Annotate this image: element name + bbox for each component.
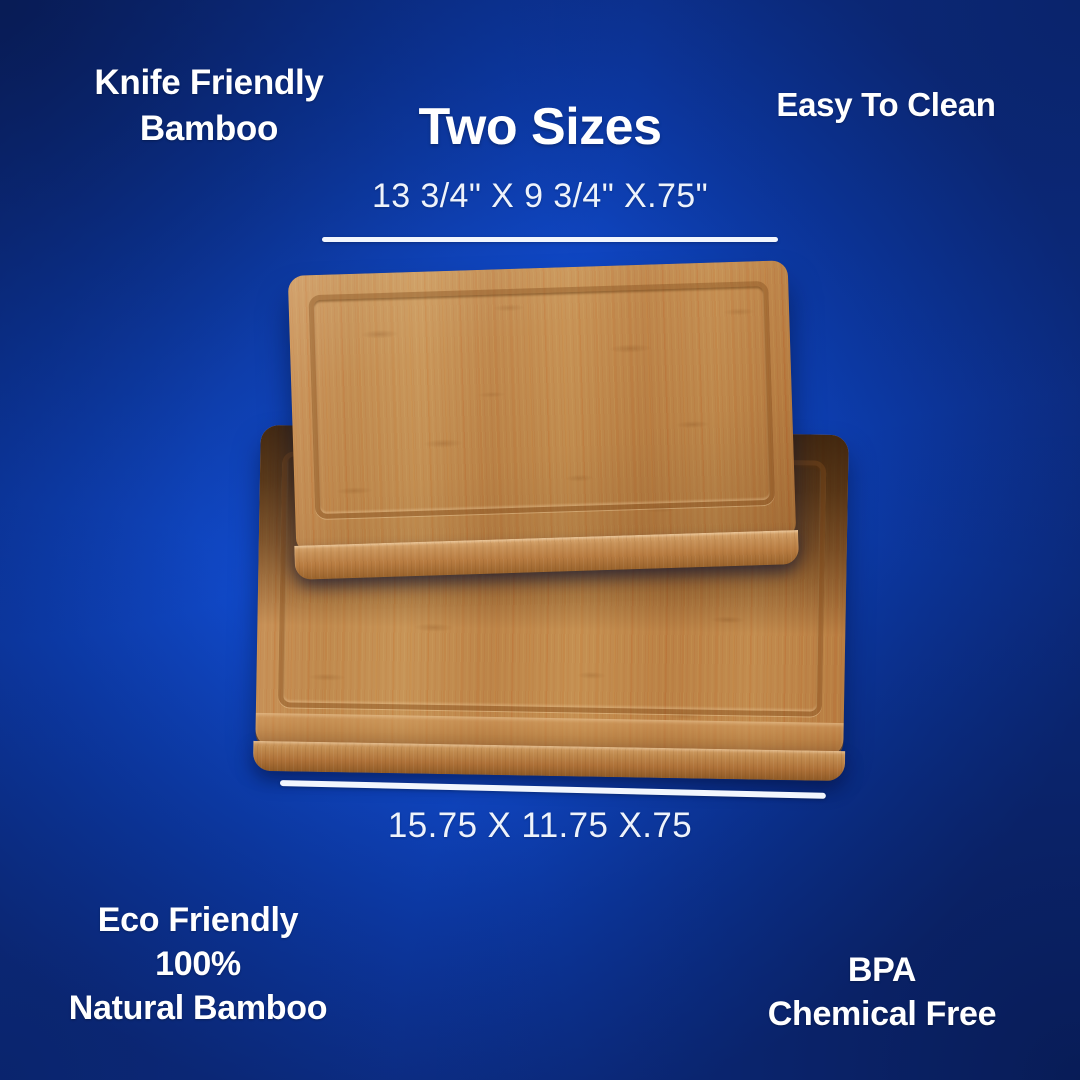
upper-board-shading (288, 260, 796, 554)
dimension-rule-top (322, 237, 778, 242)
product-infographic: Knife Friendly Bamboo Easy To Clean Two … (0, 0, 1080, 1080)
page-title: Two Sizes (0, 97, 1080, 157)
large-board-dimension-label: 13 3/4" X 9 3/4" X.75" (0, 177, 1080, 216)
upper-board (288, 260, 796, 554)
feature-eco-friendly: Eco Friendly 100% Natural Bamboo (28, 898, 368, 1031)
upper-board-surface (288, 260, 796, 554)
small-board-dimension-label: 15.75 X 11.75 X.75 (0, 806, 1080, 846)
feature-bpa-free: BPA Chemical Free (722, 948, 1042, 1036)
